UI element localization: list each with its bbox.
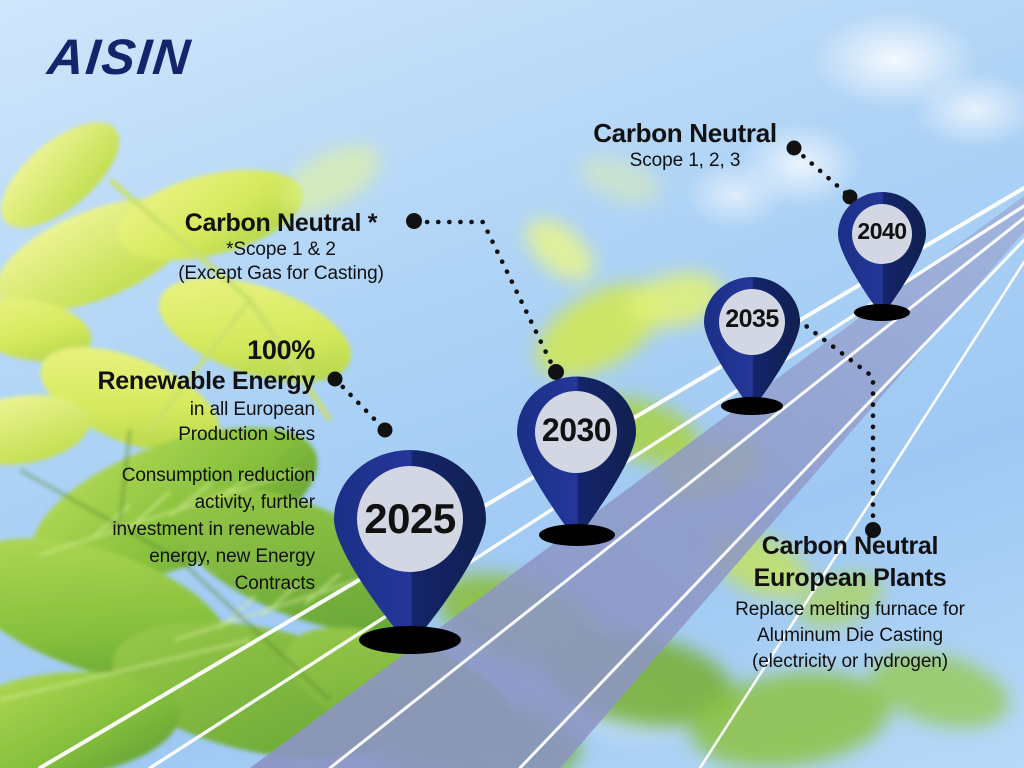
callout-carbon-neutral-plants: Carbon Neutral European Plants Replace m… xyxy=(700,530,1000,675)
callout-consumption-line2: activity, further xyxy=(30,489,315,516)
callout-carbon-neutral-scope123: Carbon Neutral Scope 1, 2, 3 xyxy=(540,118,830,173)
pin-shape-2040 xyxy=(836,192,928,317)
callout-plants-heading1: Carbon Neutral xyxy=(700,530,1000,562)
callout-consumption-line3: investment in renewable xyxy=(30,516,315,543)
pin-label-2040: 2040 xyxy=(836,218,928,245)
callout-plants-sub2: Aluminum Die Casting xyxy=(700,623,1000,649)
callout-consumption-reduction: Consumption reduction activity, further … xyxy=(30,462,315,597)
pin-shadow-2035 xyxy=(721,397,783,415)
aisin-logo: AISIN xyxy=(45,28,194,86)
pin-2030[interactable]: 2030 xyxy=(514,376,639,541)
infographic-canvas: 2040 2035 2030 xyxy=(0,0,1024,768)
pin-label-2030: 2030 xyxy=(514,412,639,449)
pin-shadow-2030 xyxy=(539,524,615,546)
callout-cn123-sub1: Scope 1, 2, 3 xyxy=(540,149,830,173)
callout-cn123-heading: Carbon Neutral xyxy=(540,118,830,149)
pin-shape-2035 xyxy=(702,276,802,411)
pin-2025[interactable]: 2025 xyxy=(330,448,490,648)
callout-renewable-sub1: in all European xyxy=(30,397,315,422)
callout-plants-heading2: European Plants xyxy=(700,562,1000,594)
callout-cn12-sub1: *Scope 1 & 2 xyxy=(150,238,412,262)
callout-consumption-line5: Contracts xyxy=(30,570,315,597)
pin-label-2025: 2025 xyxy=(330,495,490,543)
callout-cn12-heading: Carbon Neutral * xyxy=(150,208,412,238)
pin-2035[interactable]: 2035 xyxy=(702,276,802,411)
callout-cn12-sub2: (Except Gas for Casting) xyxy=(150,262,412,286)
callout-consumption-line4: energy, new Energy xyxy=(30,543,315,570)
pin-shape-2025 xyxy=(330,448,490,648)
pin-2040[interactable]: 2040 xyxy=(836,192,928,317)
callout-renewable-sub2: Production Sites xyxy=(30,422,315,447)
pin-shadow-2040 xyxy=(854,304,910,321)
callout-renewable-energy: 100% Renewable Energy in all European Pr… xyxy=(30,334,315,447)
callout-carbon-neutral-scope12: Carbon Neutral * *Scope 1 & 2 (Except Ga… xyxy=(150,208,412,286)
callout-plants-sub1: Replace melting furnace for xyxy=(700,597,1000,623)
pin-shape-2030 xyxy=(514,376,639,541)
callout-renewable-heading1: 100% xyxy=(30,334,315,366)
callout-renewable-heading2: Renewable Energy xyxy=(30,366,315,397)
callout-plants-sub3: (electricity or hydrogen) xyxy=(700,649,1000,675)
pin-shadow-2025 xyxy=(359,626,461,654)
callout-consumption-line1: Consumption reduction xyxy=(30,462,315,489)
pin-label-2035: 2035 xyxy=(702,305,802,334)
